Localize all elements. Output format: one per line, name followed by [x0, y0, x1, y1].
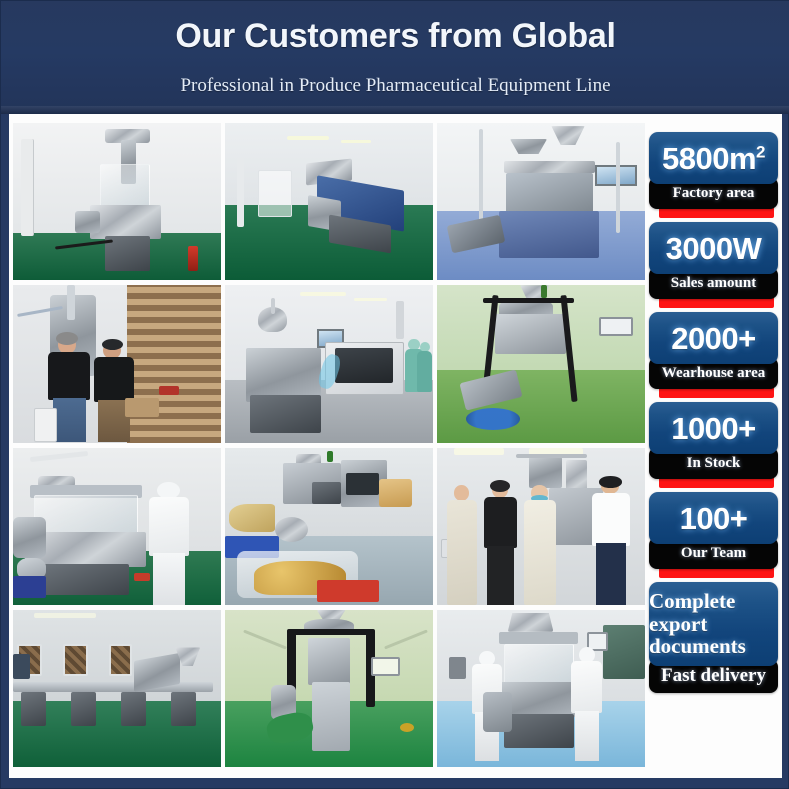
page-title: Our Customers from Global	[1, 17, 789, 56]
stat-value-box: 2000+	[649, 312, 778, 364]
stat-label: Sales amount	[671, 275, 756, 292]
stat-label: Factory area	[673, 185, 755, 202]
stat-label: Our Team	[681, 545, 746, 562]
photo-multihead-weigher-green-room[interactable]	[437, 285, 645, 442]
stat-group-export-documents: Complete export documents Fast delivery	[649, 582, 778, 693]
page-subtitle: Professional in Produce Pharmaceutical E…	[1, 75, 789, 97]
stat-group-in-stock: 1000+ In Stock	[649, 402, 778, 488]
stat-label: Fast delivery	[661, 665, 766, 687]
stat-label: In Stock	[687, 455, 741, 472]
stat-value: 100+	[680, 503, 748, 534]
photo-capsule-filling-machine-green-floor[interactable]	[13, 123, 221, 280]
stat-value: 5800m2	[662, 143, 765, 174]
photo-bottle-conveyor-line[interactable]	[13, 610, 221, 767]
stat-group-our-team: 100+ Our Team	[649, 492, 778, 578]
photo-packaging-line-green-floor[interactable]	[225, 123, 433, 280]
photo-capsule-bulk-filling[interactable]	[225, 448, 433, 605]
photo-blister-machine-cleanroom[interactable]	[225, 285, 433, 442]
photo-two-operators-tablet-press[interactable]	[437, 610, 645, 767]
header-banner: Our Customers from Global Professional i…	[1, 1, 789, 114]
header-shadow-divider	[1, 106, 789, 114]
stat-value-box: 1000+	[649, 402, 778, 454]
stat-group-factory-area: 5800m2 Factory area	[649, 132, 778, 218]
photo-capsule-machine-green-floor[interactable]	[225, 610, 433, 767]
stat-group-wearhouse-area: 2000+ Wearhouse area	[649, 312, 778, 398]
poster-root: Our Customers from Global Professional i…	[0, 0, 789, 789]
content-panel: 5800m2 Factory area 3000W Sales amount 2	[9, 114, 782, 778]
stat-value-box: Complete export documents	[649, 582, 778, 666]
stat-value-box: 3000W	[649, 222, 778, 274]
stats-sidebar: 5800m2 Factory area 3000W Sales amount 2	[649, 132, 778, 760]
stat-label: Wearhouse area	[662, 365, 765, 382]
stat-group-sales-amount: 3000W Sales amount	[649, 222, 778, 308]
photo-capsule-filler-blue-floor[interactable]	[437, 123, 645, 280]
stat-value: 2000+	[671, 323, 756, 354]
stat-value-box: 100+	[649, 492, 778, 544]
stat-value: Complete export documents	[649, 590, 778, 658]
photo-customers-warehouse-pallets[interactable]	[13, 285, 221, 442]
stat-value: 3000W	[666, 233, 762, 264]
stat-value-box: 5800m2	[649, 132, 778, 184]
photo-tablet-press-operator[interactable]	[13, 448, 221, 605]
photo-customer-team-visit[interactable]	[437, 448, 645, 605]
stat-value: 1000+	[671, 413, 756, 444]
photo-gallery-grid	[13, 123, 645, 767]
